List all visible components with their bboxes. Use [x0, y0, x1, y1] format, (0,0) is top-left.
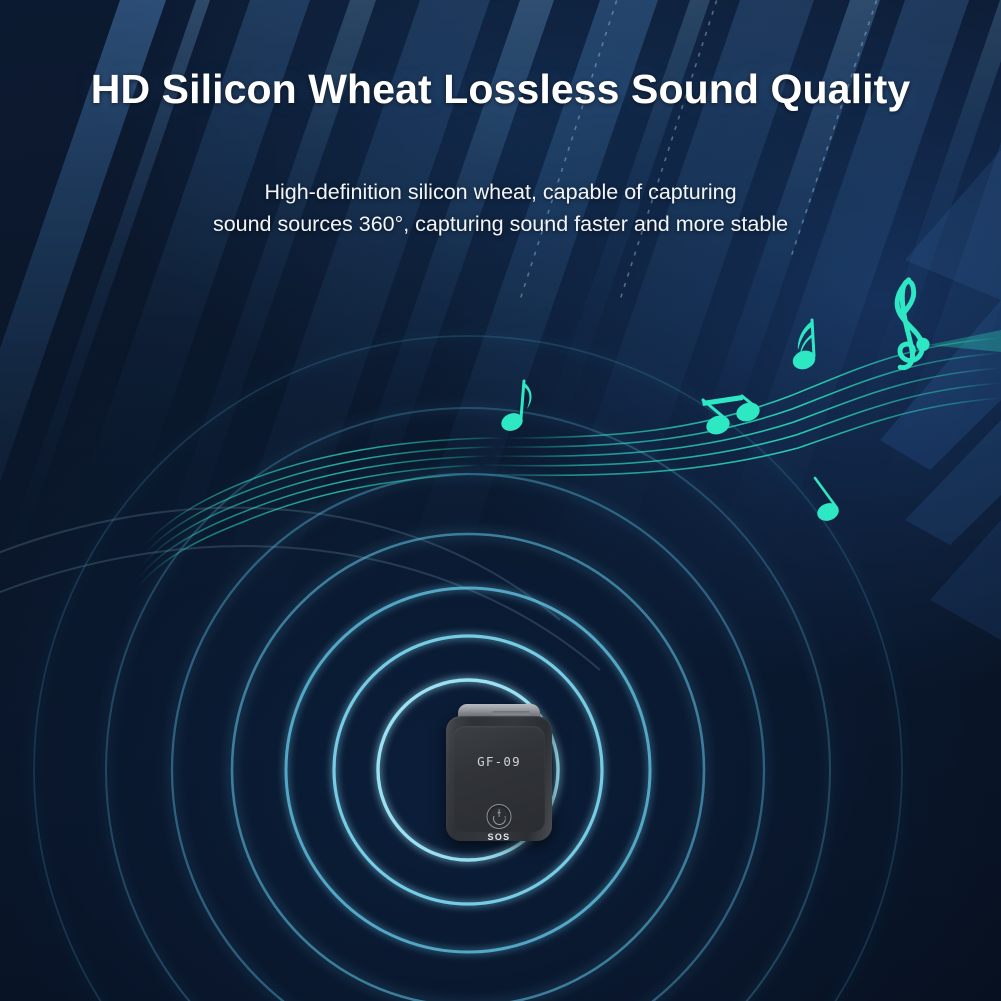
product-banner: HD Silicon Wheat Lossless Sound Quality … — [0, 0, 1001, 1001]
device-body: GF-09 SOS — [446, 716, 552, 841]
product-device-gf09: GF-09 SOS — [446, 704, 552, 841]
quarter-note-icon — [815, 478, 841, 524]
subtitle-line-2: sound sources 360°, capturing sound fast… — [0, 208, 1001, 240]
device-model-label: GF-09 — [446, 754, 552, 769]
eighth-note-icon — [790, 320, 818, 372]
device-sos-label: SOS — [446, 832, 552, 842]
subtitle: High-definition silicon wheat, capable o… — [0, 176, 1001, 240]
beamed-eighth-notes-icon — [702, 395, 762, 438]
treble-clef-icon — [897, 280, 929, 368]
page-title: HD Silicon Wheat Lossless Sound Quality — [0, 66, 1001, 113]
subtitle-line-1: High-definition silicon wheat, capable o… — [0, 176, 1001, 208]
device-top-slot — [492, 711, 530, 715]
eighth-note-icon — [499, 381, 532, 434]
power-icon — [487, 804, 512, 829]
music-notes-group — [0, 0, 1001, 1001]
